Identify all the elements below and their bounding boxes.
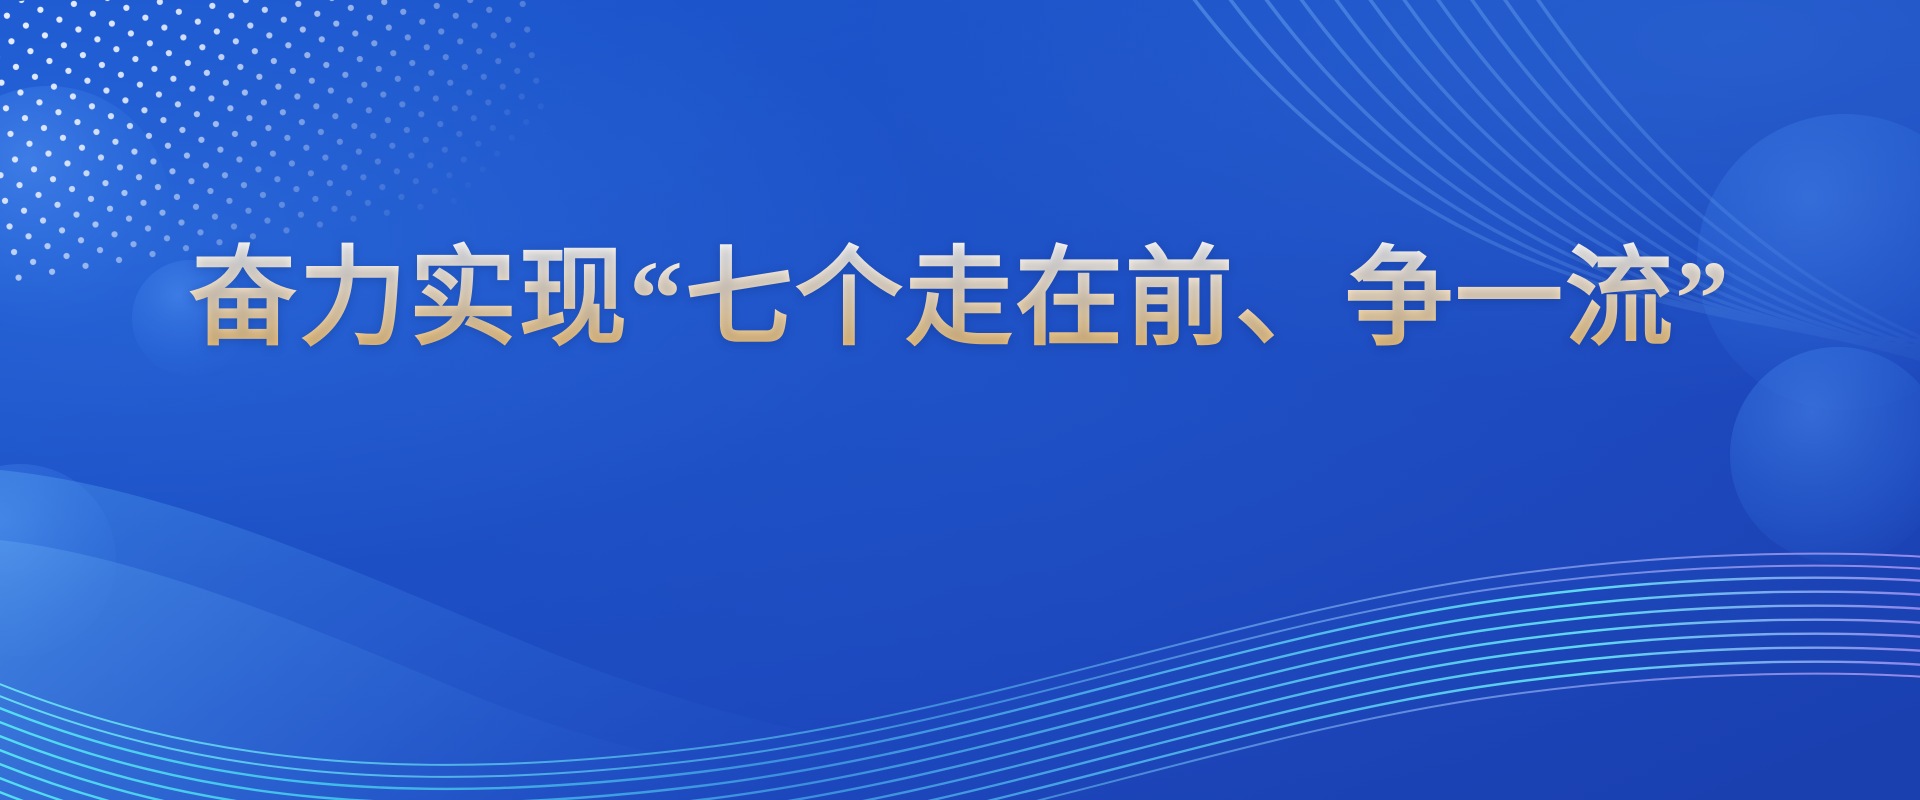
dot-matrix-pattern [0,0,1920,800]
background-gradient-layer [0,0,1920,800]
circle-highlight-right-lower [1730,347,1920,563]
circle-highlights-layer [0,0,1920,800]
headline-container: 奋力实现“七个走在前、争一流” [0,236,1920,363]
wave-lines [0,0,1920,800]
concentric-arc-lines [0,0,1920,800]
wave-band-shape [0,0,1920,800]
page-title: 奋力实现“七个走在前、争一流” [189,236,1731,363]
circle-highlight-bottom-left [0,464,116,656]
banner-root: 奋力实现“七个走在前、争一流” [0,0,1920,800]
